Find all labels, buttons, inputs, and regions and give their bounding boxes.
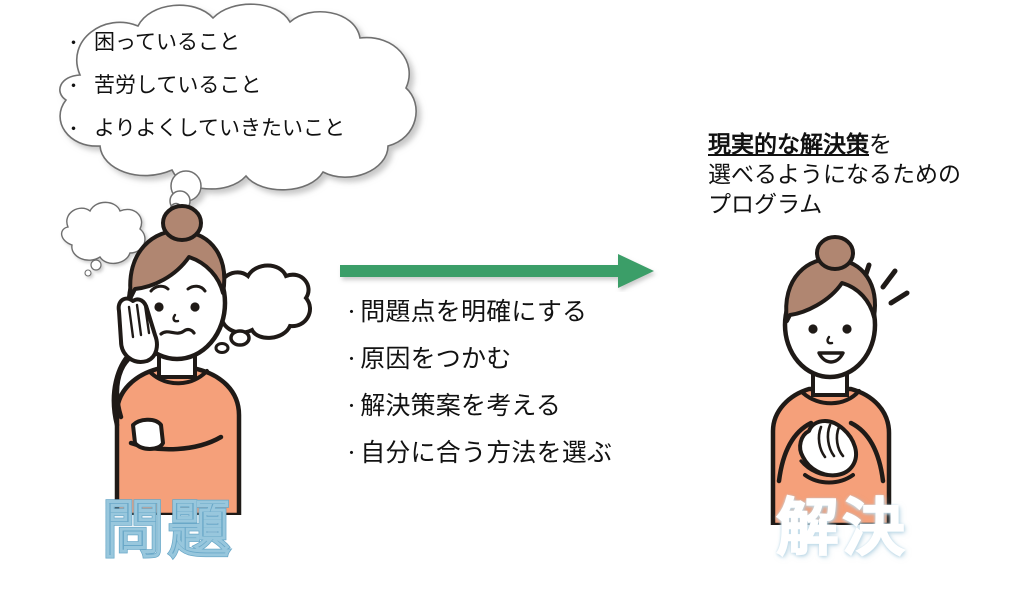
step-item-label: 自分に合う方法を選ぶ — [360, 439, 612, 467]
solution-word-label-text: 解決 — [750, 498, 935, 560]
step-item: ・自分に合う方法を選ぶ — [344, 441, 664, 466]
solution-step-list: ・問題点を明確にする ・原因をつかむ ・解決策案を考える ・自分に合う方法を選ぶ — [344, 300, 664, 488]
bullet-glyph: ・ — [344, 398, 359, 415]
cloud-item-label: よりよくしていきたいこと — [94, 118, 345, 139]
bullet-glyph: ・ — [65, 121, 82, 138]
step-item: ・原因をつかむ — [344, 347, 664, 372]
cloud-item-label: 苦労していること — [94, 75, 261, 96]
thought-cloud: ・ 困っていること ・ 苦労していること ・ よりよくしていきたいこと — [10, 0, 430, 210]
step-item-label: 問題点を明確にする — [360, 298, 587, 326]
cloud-item: ・ 困っていること — [65, 32, 395, 53]
problem-word-label-texture: 問題 — [78, 500, 258, 562]
cloud-item-label: 困っていること — [94, 32, 240, 53]
program-heading-line-1-rest: を — [869, 131, 892, 157]
worried-woman-illustration — [55, 185, 295, 515]
progress-arrow — [336, 252, 666, 292]
program-heading-line-1: 現実的な解決策を — [708, 130, 1018, 160]
bullet-glyph: ・ — [344, 304, 359, 321]
solution-word-label: 解決 — [750, 498, 935, 580]
bullet-glyph: ・ — [65, 78, 82, 95]
slide-canvas: ・ 困っていること ・ 苦労していること ・ よりよくしていきたいこと — [0, 0, 1024, 593]
program-heading-line-3: プログラム — [708, 190, 1018, 220]
step-item-label: 解決策案を考える — [360, 392, 561, 420]
bullet-glyph: ・ — [344, 351, 359, 368]
cloud-item: ・ 苦労していること — [65, 75, 395, 96]
program-heading-emphasis: 現実的な解決策 — [708, 131, 869, 157]
bullet-glyph: ・ — [65, 35, 82, 52]
cloud-item: ・ よりよくしていきたいこと — [65, 118, 395, 139]
step-item: ・解決策案を考える — [344, 394, 664, 419]
bullet-glyph: ・ — [344, 445, 359, 462]
step-item-label: 原因をつかむ — [360, 345, 511, 373]
step-item: ・問題点を明確にする — [344, 300, 664, 325]
problem-word-label: 問題 問題 — [78, 500, 258, 580]
cloud-text-block: ・ 困っていること ・ 苦労していること ・ よりよくしていきたいこと — [65, 32, 395, 161]
relieved-woman-illustration — [735, 235, 970, 525]
program-heading-line-2: 選べるようになるための — [708, 160, 1018, 190]
program-heading: 現実的な解決策を 選べるようになるための プログラム — [708, 130, 1018, 220]
